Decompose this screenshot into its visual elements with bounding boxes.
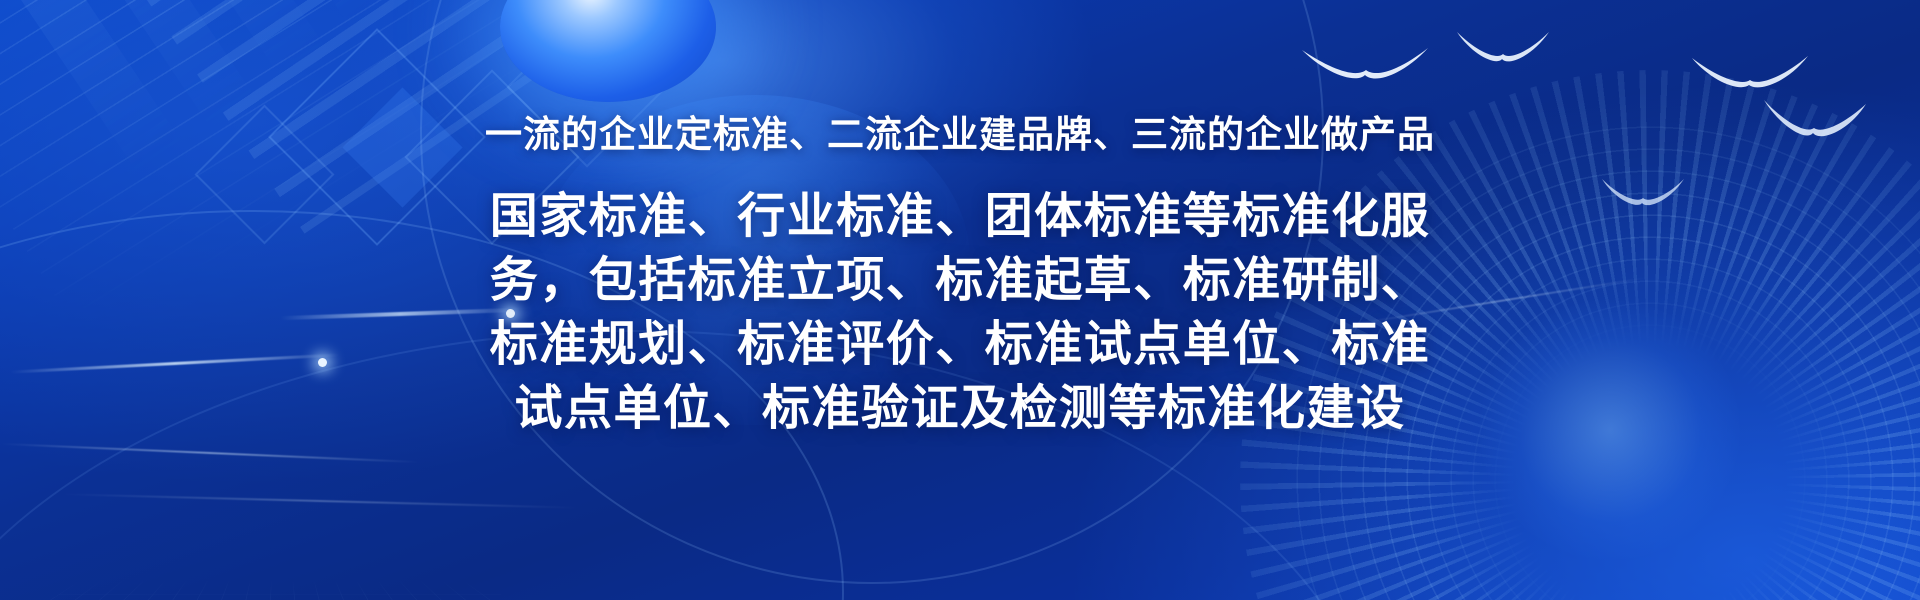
- perspective-grid-decoration: [0, 569, 600, 600]
- banner-text-block: 一流的企业定标准、二流企业建品牌、三流的企业做产品 国家标准、行业标准、团体标准…: [0, 0, 1920, 440]
- banner-body-line: 务，包括标准立项、标准起草、标准研制、: [440, 248, 1480, 312]
- banner-body-line: 国家标准、行业标准、团体标准等标准化服: [440, 184, 1480, 248]
- banner-body: 国家标准、行业标准、团体标准等标准化服 务，包括标准立项、标准起草、标准研制、 …: [440, 184, 1480, 440]
- banner-headline: 一流的企业定标准、二流企业建品牌、三流的企业做产品: [485, 115, 1435, 156]
- light-streak-decoration: [0, 443, 420, 463]
- banner-body-line: 试点单位、标准验证及检测等标准化建设: [440, 376, 1480, 440]
- hero-banner: 一流的企业定标准、二流企业建品牌、三流的企业做产品 国家标准、行业标准、团体标准…: [0, 0, 1920, 600]
- light-streak-decoration: [60, 493, 580, 509]
- banner-body-line: 标准规划、标准评价、标准试点单位、标准: [440, 312, 1480, 376]
